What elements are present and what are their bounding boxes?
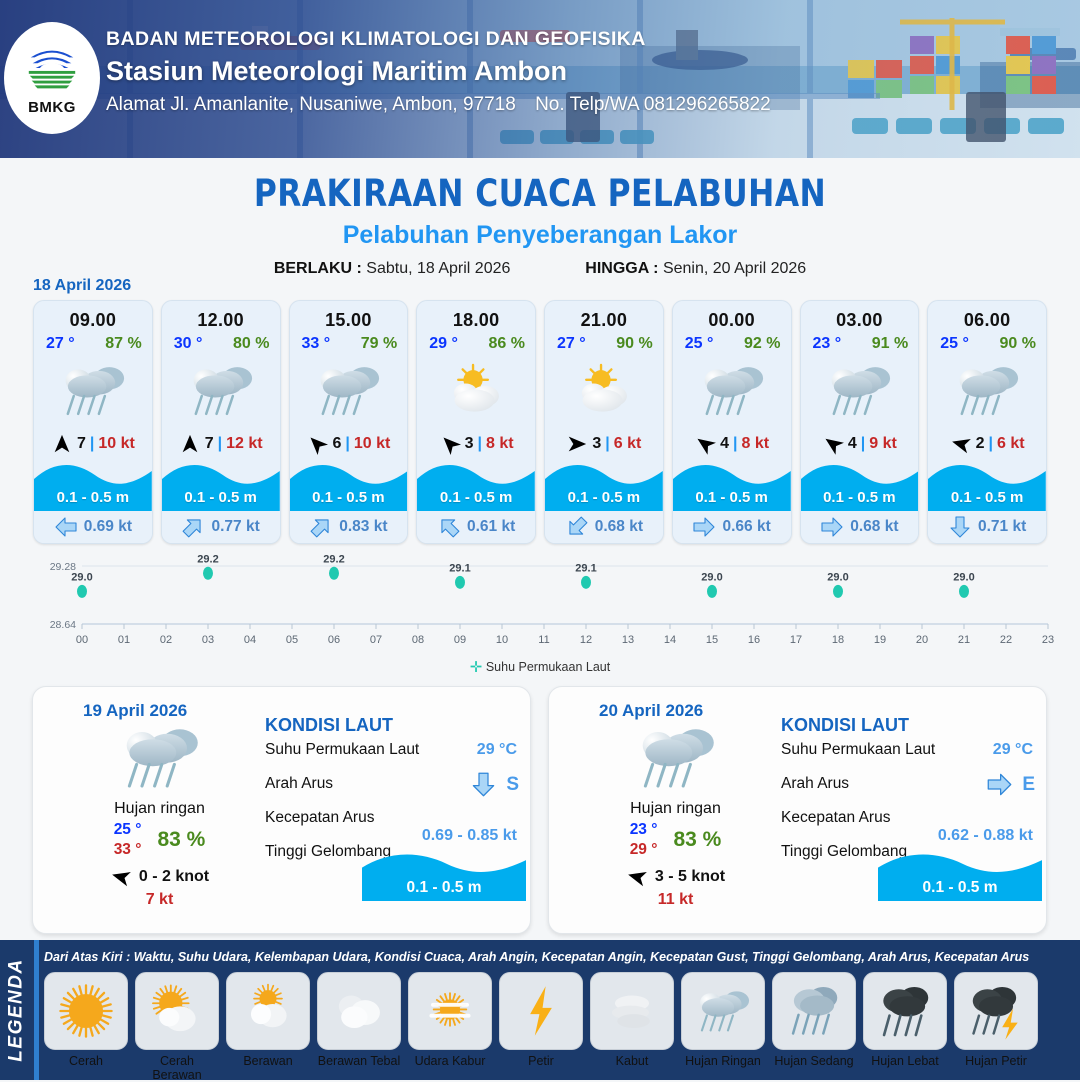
daily-temp-min: 23 °	[630, 821, 658, 839]
card-wave: 0.1 - 0.5 m	[34, 459, 152, 511]
card-separator: |	[605, 435, 609, 453]
card-wave-height: 0.1 - 0.5 m	[801, 489, 919, 506]
valid-from-value: Sabtu, 18 April 2026	[366, 260, 510, 277]
current-direction-arrow-icon	[820, 515, 844, 539]
current-speed-label: Kecepatan Arus	[781, 809, 890, 826]
card-humidity: 87 %	[105, 335, 141, 353]
svg-text:29.0: 29.0	[827, 571, 848, 583]
card-temperature: 27 °	[46, 335, 75, 353]
card-weather-icon	[290, 353, 408, 429]
sst-row: Suhu Permukaan Laut 29 °C	[781, 741, 1039, 775]
legend-item-icon	[772, 972, 856, 1050]
wind-direction-arrow-icon	[818, 429, 849, 460]
legend-item: Hujan Sedang	[772, 972, 856, 1082]
card-separator: |	[345, 435, 349, 453]
sst-chart-plot: 29.2828.64000102030405060708091011121314…	[20, 552, 1060, 662]
svg-text:13: 13	[622, 634, 634, 646]
partly-cloudy-icon	[567, 362, 641, 420]
chart-legend: ✛ Suhu Permukaan Laut	[20, 658, 1060, 676]
hourly-card: 21.00 27 ° 90 % 3	[544, 300, 664, 544]
legend-item-icon	[590, 972, 674, 1050]
legend-accent-bar	[34, 940, 39, 1080]
card-weather-icon	[801, 353, 919, 429]
legend-item-label: Petir	[499, 1054, 583, 1068]
svg-text:21: 21	[958, 634, 970, 646]
thunderstorm-icon	[965, 980, 1027, 1042]
daily-humidity: 83 %	[673, 828, 721, 852]
svg-text:00: 00	[76, 634, 88, 646]
legend-item: Berawan Tebal	[317, 972, 401, 1082]
bmkg-logo: BMKG	[4, 22, 100, 134]
card-current-speed: 0.77 kt	[211, 518, 259, 536]
card-wind-direction: 6	[332, 435, 341, 453]
legend-item-label: Cerah	[44, 1054, 128, 1068]
legend-item-label: Hujan Ringan	[681, 1054, 765, 1068]
cloud-sun-small-icon	[237, 980, 299, 1042]
svg-text:02: 02	[160, 634, 172, 646]
card-current-row: 0.69 kt	[34, 511, 152, 543]
svg-text:29.0: 29.0	[71, 571, 92, 583]
daily-summary: Hujan ringan 23 ° 29 ° 83 % 3 - 5 knot 1…	[573, 723, 778, 909]
card-wind-row: 4 | 8 kt	[673, 429, 791, 459]
sst-value: 29 °C	[993, 741, 1033, 759]
card-wave: 0.1 - 0.5 m	[290, 459, 408, 511]
card-current-speed: 0.68 kt	[850, 518, 898, 536]
legend-section: LEGENDA Dari Atas Kiri : Waktu, Suhu Uda…	[0, 940, 1080, 1080]
valid-until-value: Senin, 20 April 2026	[663, 260, 806, 277]
current-direction-arrow-icon	[986, 771, 1013, 798]
card-weather-icon	[417, 353, 535, 429]
svg-text:07: 07	[370, 634, 382, 646]
card-humidity: 86 %	[489, 335, 525, 353]
card-current-speed: 0.83 kt	[339, 518, 387, 536]
cloud-thick-icon	[328, 980, 390, 1042]
daily-weather-icon	[57, 723, 262, 798]
sun-cloud-icon	[146, 980, 208, 1042]
daily-forecast-row: 19 April 2026 Hujan ringan 25 ° 33 ° 83	[32, 686, 1048, 934]
hourly-card: 06.00 25 ° 90 % 2 | 6 kt	[927, 300, 1047, 544]
svg-text:28.64: 28.64	[50, 619, 76, 631]
daily-condition: Hujan ringan	[573, 800, 778, 818]
current-speed-row: Kecepatan Arus 0.69 - 0.85 kt	[265, 809, 523, 843]
card-humidity: 92 %	[744, 335, 780, 353]
header-text-block: BADAN METEOROLOGI KLIMATOLOGI DAN GEOFIS…	[106, 28, 771, 116]
daily-wave-graphic: 0.1 - 0.5 m	[878, 849, 1042, 905]
card-current-row: 0.68 kt	[545, 511, 663, 543]
current-direction-arrow-icon	[560, 510, 594, 544]
current-direction-value: S	[506, 774, 519, 796]
title-section: PRAKIRAAN CUACA PELABUHAN Pelabuhan Peny…	[0, 158, 1080, 278]
svg-text:29.2: 29.2	[323, 553, 344, 565]
card-current-row: 0.61 kt	[417, 511, 535, 543]
card-separator: |	[90, 435, 94, 453]
legend-item-icon	[499, 972, 583, 1050]
daily-wave-graphic: 0.1 - 0.5 m	[362, 849, 526, 905]
card-current-row: 0.83 kt	[290, 511, 408, 543]
svg-text:10: 10	[496, 634, 508, 646]
current-direction-arrow-icon	[470, 771, 497, 798]
hourly-day-label: 18 April 2026	[33, 277, 131, 295]
rain-light-icon	[822, 362, 896, 420]
legend-item: Hujan Ringan	[681, 972, 765, 1082]
legend-item-icon	[44, 972, 128, 1050]
legend-item-icon	[317, 972, 401, 1050]
wind-direction-arrow-icon	[107, 864, 134, 891]
sea-conditions-title: KONDISI LAUT	[265, 715, 523, 736]
legend-note: Dari Atas Kiri : Waktu, Suhu Udara, Kele…	[44, 949, 1033, 964]
legend-item-label: Kabut	[590, 1054, 674, 1068]
current-speed-row: Kecepatan Arus 0.62 - 0.88 kt	[781, 809, 1039, 843]
rain-light-icon	[692, 987, 754, 1035]
card-wave-height: 0.1 - 0.5 m	[928, 489, 1046, 506]
sst-label: Suhu Permukaan Laut	[781, 741, 935, 758]
current-direction-arrow-icon	[692, 515, 716, 539]
card-wave-height: 0.1 - 0.5 m	[290, 489, 408, 506]
page-title: PRAKIRAAN CUACA PELABUHAN	[32, 172, 1047, 215]
page-header: BMKG BADAN METEOROLOGI KLIMATOLOGI DAN G…	[0, 0, 1080, 158]
card-humidity: 80 %	[233, 335, 269, 353]
legend-item: Hujan Petir	[954, 972, 1038, 1082]
card-wind-row: 3 | 6 kt	[545, 429, 663, 459]
current-direction-row: Arah Arus E	[781, 775, 1039, 809]
validity-range: BERLAKU : Sabtu, 18 April 2026 HINGGA : …	[0, 260, 1080, 278]
hourly-card: 12.00 30 ° 80 % 7 | 12 kt	[161, 300, 281, 544]
legend-item: Berawan	[226, 972, 310, 1082]
legend-item-icon	[226, 972, 310, 1050]
card-temperature: 29 °	[429, 335, 458, 353]
svg-text:17: 17	[790, 634, 802, 646]
card-humidity: 79 %	[361, 335, 397, 353]
svg-text:05: 05	[286, 634, 298, 646]
card-time: 00.00	[673, 301, 791, 331]
legend-item-label: Hujan Sedang	[772, 1054, 856, 1068]
sst-label: Suhu Permukaan Laut	[265, 741, 419, 758]
card-humidity: 90 %	[616, 335, 652, 353]
address-line: Alamat Jl. Amanlanite, Nusaniwe, Ambon, …	[106, 94, 771, 116]
daily-condition: Hujan ringan	[57, 800, 262, 818]
legend-items: Cerah Cerah Berawan Berawan Berawan Teba…	[44, 972, 1074, 1082]
card-weather-icon	[34, 353, 152, 429]
card-current-row: 0.77 kt	[162, 511, 280, 543]
sun-icon	[55, 980, 117, 1042]
card-wind-direction: 7	[77, 435, 86, 453]
sst-value: 29 °C	[477, 741, 517, 759]
current-direction-row: Arah Arus S	[265, 775, 523, 809]
svg-text:03: 03	[202, 634, 214, 646]
agency-name: BADAN METEOROLOGI KLIMATOLOGI DAN GEOFIS…	[106, 28, 771, 51]
hourly-card: 15.00 33 ° 79 % 6 | 10 kt	[289, 300, 409, 544]
hourly-card: 03.00 23 ° 91 % 4 | 9 kt	[800, 300, 920, 544]
card-gust: 10 kt	[354, 435, 390, 453]
hourly-forecast-row: 09.00 27 ° 87 % 7 | 10 kt	[33, 300, 1047, 544]
daily-temp-min: 25 °	[114, 821, 142, 839]
rain-light-icon	[695, 362, 769, 420]
current-direction-arrow-icon	[177, 510, 211, 544]
card-separator: |	[989, 435, 993, 453]
card-current-row: 0.68 kt	[801, 511, 919, 543]
current-direction-arrow-icon	[432, 510, 466, 544]
card-wind-direction: 2	[976, 435, 985, 453]
card-wave-height: 0.1 - 0.5 m	[545, 489, 663, 506]
svg-text:20: 20	[916, 634, 928, 646]
hourly-card: 18.00 29 ° 86 % 3	[416, 300, 536, 544]
card-wind-row: 2 | 6 kt	[928, 429, 1046, 459]
haze-icon	[419, 980, 481, 1042]
daily-weather-icon	[573, 723, 778, 798]
valid-from-label: BERLAKU :	[274, 260, 362, 277]
legend-item-label: Berawan	[226, 1054, 310, 1068]
wind-direction-arrow-icon	[434, 428, 465, 459]
card-wind-direction: 4	[848, 435, 857, 453]
daily-gust: 7 kt	[57, 891, 262, 909]
fog-icon	[601, 980, 663, 1042]
svg-text:14: 14	[664, 634, 676, 646]
daily-temp-humidity: 25 ° 33 ° 83 %	[57, 821, 262, 859]
bmkg-logo-text: BMKG	[28, 99, 76, 116]
current-direction-label: Arah Arus	[265, 775, 333, 792]
wind-direction-arrow-icon	[566, 433, 588, 455]
rain-light-icon	[311, 362, 385, 420]
card-temperature: 27 °	[557, 335, 586, 353]
legend-item-label: Udara Kabur	[408, 1054, 492, 1068]
daily-temp-max: 33 °	[114, 841, 142, 859]
rain-light-icon	[184, 362, 258, 420]
card-temperature: 25 °	[940, 335, 969, 353]
rain-moderate-icon	[783, 980, 845, 1042]
bmkg-logo-mark	[23, 40, 81, 98]
current-speed-label: Kecepatan Arus	[265, 809, 374, 826]
card-time: 06.00	[928, 301, 1046, 331]
rain-light-icon	[631, 723, 721, 793]
card-time: 12.00	[162, 301, 280, 331]
legend-item-icon	[135, 972, 219, 1050]
legend-item-label: Hujan Lebat	[863, 1054, 947, 1068]
card-temperature: 23 °	[813, 335, 842, 353]
svg-text:29.0: 29.0	[953, 571, 974, 583]
card-wind-row: 7 | 12 kt	[162, 429, 280, 459]
card-weather-icon	[162, 353, 280, 429]
legend-side-label: LEGENDA	[0, 940, 34, 1080]
daily-date: 19 April 2026	[83, 701, 187, 721]
partly-cloudy-icon	[439, 362, 513, 420]
legend-item-icon	[681, 972, 765, 1050]
station-name: Stasiun Meteorologi Maritim Ambon	[106, 56, 771, 87]
daily-panel: 20 April 2026 Hujan ringan 23 ° 29 ° 83	[548, 686, 1047, 934]
wind-direction-arrow-icon	[947, 431, 974, 458]
card-time: 21.00	[545, 301, 663, 331]
svg-text:23: 23	[1042, 634, 1054, 646]
legend-item: Hujan Lebat	[863, 972, 947, 1082]
card-wave: 0.1 - 0.5 m	[545, 459, 663, 511]
card-current-speed: 0.61 kt	[467, 518, 515, 536]
phone-number: 081296265822	[644, 94, 771, 115]
card-separator: |	[733, 435, 737, 453]
sst-chart: 29.2828.64000102030405060708091011121314…	[20, 552, 1060, 682]
current-direction-label: Arah Arus	[781, 775, 849, 792]
wind-direction-arrow-icon	[623, 864, 650, 891]
card-gust: 8 kt	[486, 435, 514, 453]
card-gust: 10 kt	[98, 435, 134, 453]
svg-text:12: 12	[580, 634, 592, 646]
daily-wave-value: 0.1 - 0.5 m	[878, 879, 1042, 897]
svg-text:08: 08	[412, 634, 424, 646]
daily-wind-row: 0 - 2 knot	[57, 866, 262, 888]
card-current-speed: 0.66 kt	[722, 518, 770, 536]
card-time: 09.00	[34, 301, 152, 331]
current-direction-arrow-icon	[948, 515, 972, 539]
card-wind-row: 7 | 10 kt	[34, 429, 152, 459]
card-humidity: 90 %	[1000, 335, 1036, 353]
svg-text:16: 16	[748, 634, 760, 646]
card-wave-height: 0.1 - 0.5 m	[417, 489, 535, 506]
legend-item: Udara Kabur	[408, 972, 492, 1082]
daily-panel: 19 April 2026 Hujan ringan 25 ° 33 ° 83	[32, 686, 531, 934]
card-gust: 6 kt	[614, 435, 642, 453]
card-wave: 0.1 - 0.5 m	[928, 459, 1046, 511]
card-wave: 0.1 - 0.5 m	[801, 459, 919, 511]
lightning-icon	[510, 980, 572, 1042]
address-text: Alamat Jl. Amanlanite, Nusaniwe, Ambon, …	[106, 94, 516, 115]
svg-text:06: 06	[328, 634, 340, 646]
hourly-card: 09.00 27 ° 87 % 7 | 10 kt	[33, 300, 153, 544]
rain-light-icon	[56, 362, 130, 420]
card-wind-row: 6 | 10 kt	[290, 429, 408, 459]
card-humidity: 91 %	[872, 335, 908, 353]
daily-temp-max: 29 °	[630, 841, 658, 859]
card-wave: 0.1 - 0.5 m	[673, 459, 791, 511]
card-weather-icon	[545, 353, 663, 429]
sst-row: Suhu Permukaan Laut 29 °C	[265, 741, 523, 775]
wind-direction-arrow-icon	[690, 429, 721, 460]
legend-item-icon	[954, 972, 1038, 1050]
svg-text:15: 15	[706, 634, 718, 646]
chart-legend-label: Suhu Permukaan Laut	[486, 660, 610, 674]
card-time: 18.00	[417, 301, 535, 331]
page-subtitle: Pelabuhan Penyeberangan Lakor	[0, 221, 1080, 250]
daily-wind: 3 - 5 knot	[655, 868, 725, 886]
daily-date: 20 April 2026	[599, 701, 703, 721]
card-wave: 0.1 - 0.5 m	[162, 459, 280, 511]
card-time: 15.00	[290, 301, 408, 331]
card-wind-direction: 3	[465, 435, 474, 453]
svg-text:01: 01	[118, 634, 130, 646]
card-current-row: 0.71 kt	[928, 511, 1046, 543]
card-gust: 9 kt	[869, 435, 897, 453]
rain-light-icon	[950, 362, 1024, 420]
current-direction-value: E	[1022, 774, 1035, 796]
legend-item: Petir	[499, 972, 583, 1082]
current-direction-arrow-icon	[304, 510, 338, 544]
card-wind-row: 4 | 9 kt	[801, 429, 919, 459]
wind-direction-arrow-icon	[51, 433, 73, 455]
wind-direction-arrow-icon	[179, 433, 201, 455]
valid-until-label: HINGGA :	[585, 260, 658, 277]
card-separator: |	[861, 435, 865, 453]
svg-text:29.1: 29.1	[449, 562, 470, 574]
legend-item: Kabut	[590, 972, 674, 1082]
legend-item-icon	[863, 972, 947, 1050]
card-gust: 6 kt	[997, 435, 1025, 453]
card-temperature: 33 °	[302, 335, 331, 353]
card-separator: |	[478, 435, 482, 453]
card-weather-icon	[673, 353, 791, 429]
card-gust: 12 kt	[226, 435, 262, 453]
card-wind-row: 3 | 8 kt	[417, 429, 535, 459]
svg-text:29.1: 29.1	[575, 562, 596, 574]
card-gust: 8 kt	[742, 435, 770, 453]
card-current-speed: 0.68 kt	[595, 518, 643, 536]
card-time: 03.00	[801, 301, 919, 331]
svg-text:11: 11	[538, 634, 549, 646]
sea-conditions-title: KONDISI LAUT	[781, 715, 1039, 736]
card-temperature: 30 °	[174, 335, 203, 353]
card-wind-direction: 3	[592, 435, 601, 453]
card-current-speed: 0.71 kt	[978, 518, 1026, 536]
svg-text:18: 18	[832, 634, 844, 646]
svg-text:29.0: 29.0	[701, 571, 722, 583]
daily-temp-humidity: 23 ° 29 ° 83 %	[573, 821, 778, 859]
daily-wind-row: 3 - 5 knot	[573, 866, 778, 888]
card-wave-height: 0.1 - 0.5 m	[673, 489, 791, 506]
daily-gust: 11 kt	[573, 891, 778, 909]
card-wave-height: 0.1 - 0.5 m	[162, 489, 280, 506]
card-current-speed: 0.69 kt	[84, 518, 132, 536]
card-wave: 0.1 - 0.5 m	[417, 459, 535, 511]
current-direction-arrow-icon	[54, 515, 78, 539]
wind-direction-arrow-icon	[302, 428, 333, 459]
card-temperature: 25 °	[685, 335, 714, 353]
card-separator: |	[218, 435, 222, 453]
phone-label: No. Telp/WA	[535, 94, 639, 115]
svg-text:04: 04	[244, 634, 256, 646]
daily-wave-value: 0.1 - 0.5 m	[362, 879, 526, 897]
legend-side-text: LEGENDA	[6, 958, 28, 1061]
legend-item: Cerah	[44, 972, 128, 1082]
sst-legend-marker-icon: ✛	[470, 659, 483, 676]
rain-light-icon	[115, 723, 205, 793]
hourly-card: 00.00 25 ° 92 % 4 | 8 kt	[672, 300, 792, 544]
card-wind-direction: 7	[205, 435, 214, 453]
legend-item-label: Berawan Tebal	[317, 1054, 401, 1068]
svg-text:19: 19	[874, 634, 886, 646]
svg-text:29.2: 29.2	[197, 553, 218, 565]
card-wind-direction: 4	[720, 435, 729, 453]
svg-text:22: 22	[1000, 634, 1012, 646]
daily-humidity: 83 %	[157, 828, 205, 852]
rain-heavy-icon	[874, 980, 936, 1042]
legend-item-label: Hujan Petir	[954, 1054, 1038, 1068]
daily-wind: 0 - 2 knot	[139, 868, 209, 886]
card-current-row: 0.66 kt	[673, 511, 791, 543]
svg-text:09: 09	[454, 634, 466, 646]
daily-summary: Hujan ringan 25 ° 33 ° 83 % 0 - 2 knot 7…	[57, 723, 262, 909]
card-wave-height: 0.1 - 0.5 m	[34, 489, 152, 506]
legend-item-icon	[408, 972, 492, 1050]
legend-item: Cerah Berawan	[135, 972, 219, 1082]
card-weather-icon	[928, 353, 1046, 429]
legend-item-label: Cerah Berawan	[135, 1054, 219, 1082]
